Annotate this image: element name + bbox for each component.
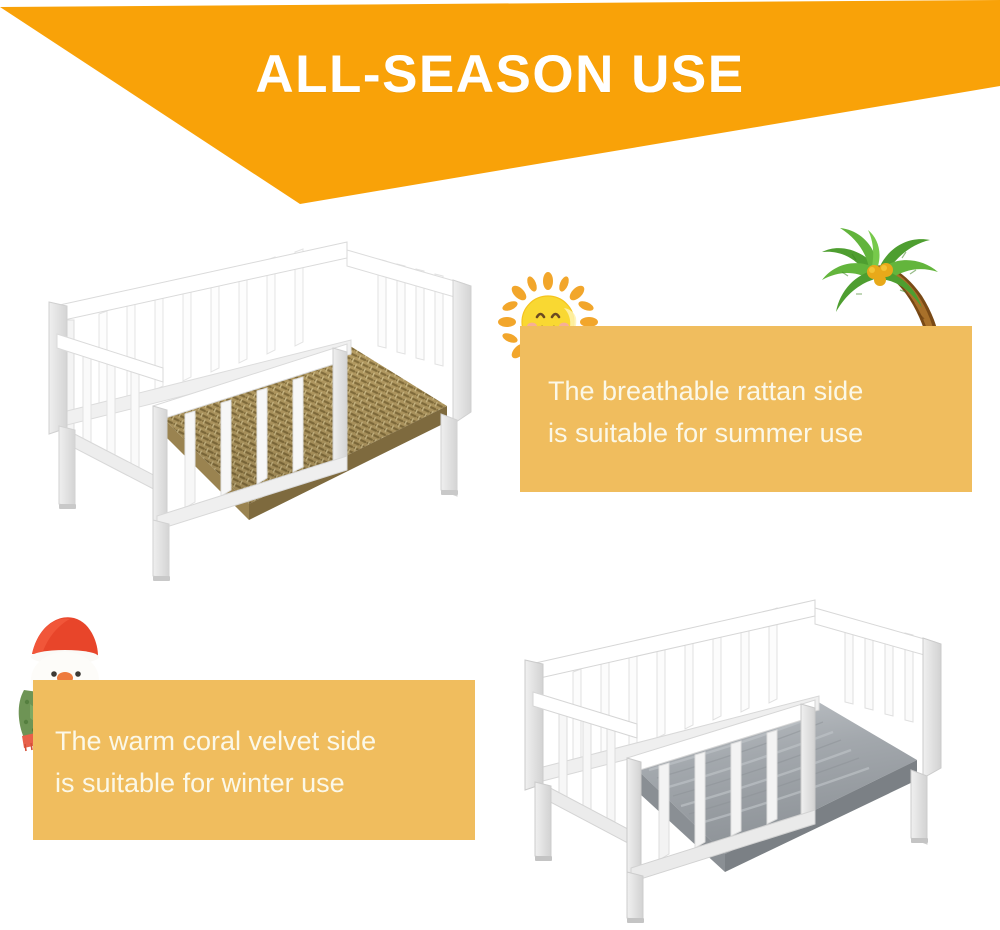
winter-line-1: The warm coral velvet side [55,720,376,762]
summer-line-2: is suitable for summer use [548,412,863,454]
summer-callout-box: The breathable rattan side is suitable f… [520,326,972,492]
winter-line-2: is suitable for winter use [55,762,376,804]
product-image-rattan-bed [35,228,495,590]
winter-callout-box: The warm coral velvet side is suitable f… [33,680,475,840]
header-banner [0,0,1000,215]
product-image-velvet-bed [515,592,975,930]
page-title: ALL-SEASON USE [0,44,1000,106]
summer-callout-text: The breathable rattan side is suitable f… [548,370,863,454]
summer-line-1: The breathable rattan side [548,370,863,412]
page-canvas: ALL-SEASON USE [0,0,1000,930]
winter-callout-text: The warm coral velvet side is suitable f… [55,720,376,804]
